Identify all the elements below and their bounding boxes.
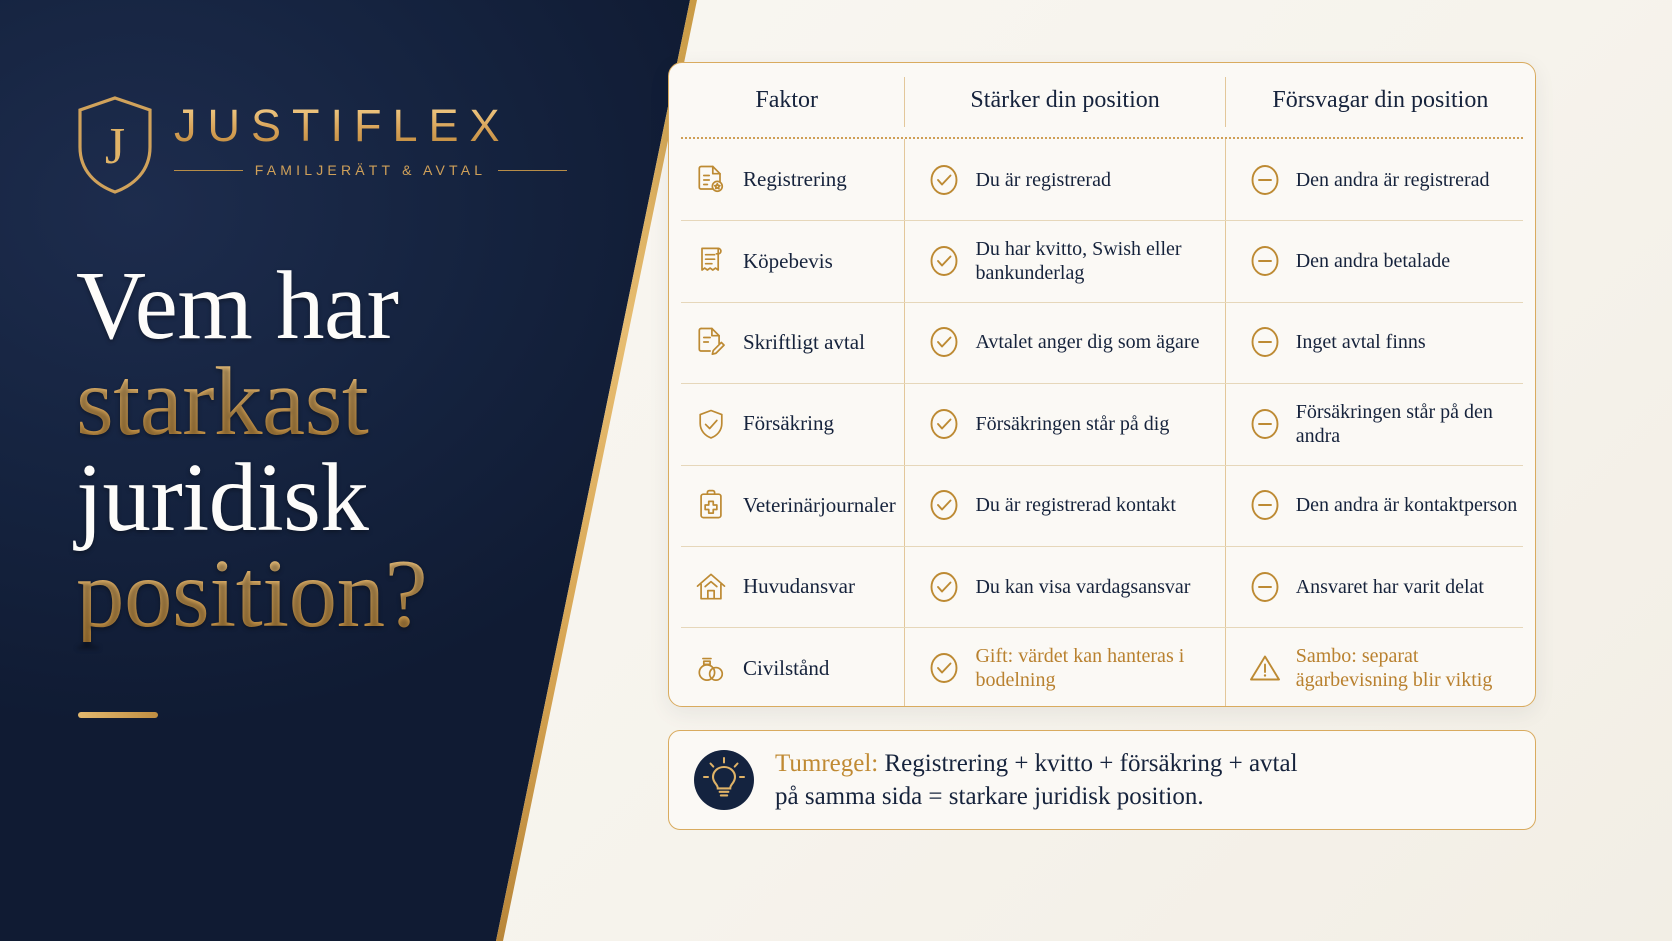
factor-label: Försäkring — [743, 411, 834, 436]
factor-label: Köpebevis — [743, 249, 833, 274]
strengthens-cell: Du är registrerad — [905, 139, 1224, 220]
weakens-cell: Den andra betalade — [1226, 220, 1535, 301]
comparison-table: Faktor Stärker din position Försvagar di… — [668, 62, 1536, 707]
minus-circle-icon — [1248, 163, 1282, 197]
check-circle-icon — [927, 163, 961, 197]
minus-circle-icon — [1248, 244, 1282, 278]
logo-rule-right — [498, 170, 567, 171]
shield-check-icon — [693, 406, 729, 442]
headline-line-3: juridisk — [76, 450, 546, 546]
strengthens-cell: Du kan visa vardagsansvar — [905, 546, 1224, 627]
wedding-rings-icon — [693, 650, 729, 686]
document-pencil-icon — [693, 324, 729, 360]
weakens-cell: Sambo: separat ägarbevisning blir viktig — [1226, 627, 1535, 707]
brand-logo: J JUSTIFLEX FAMILJERÄTT & AVTAL — [76, 95, 506, 205]
check-circle-icon — [927, 244, 961, 278]
factor-label: Veterinärjournaler — [743, 493, 896, 518]
table-row: KöpebevisDu har kvitto, Swish eller bank… — [669, 220, 1535, 301]
warning-triangle-icon — [1248, 651, 1282, 685]
check-circle-icon — [927, 488, 961, 522]
weakens-cell: Försäkringen står på den andra — [1226, 383, 1535, 464]
strengthens-cell: Avtalet anger dig som ägare — [905, 302, 1224, 383]
strengthens-text: Du är registrerad — [975, 168, 1111, 192]
strengthens-cell: Försäkringen står på dig — [905, 383, 1224, 464]
tumregel-callout: Tumregel: Registrering + kvitto + försäk… — [668, 730, 1536, 830]
weakens-text: Sambo: separat ägarbevisning blir viktig — [1296, 644, 1529, 692]
clipboard-medical-icon — [693, 487, 729, 523]
tumregel-label: Tumregel: — [775, 750, 885, 777]
headline-line-2: starkast — [76, 354, 546, 450]
minus-circle-icon — [1248, 570, 1282, 604]
factor-cell: Försäkring — [669, 383, 904, 464]
strengthens-cell: Du har kvitto, Swish eller bankunderlag — [905, 220, 1224, 301]
headline-accent-dash — [78, 712, 158, 718]
table-row: FörsäkringFörsäkringen står på digFörsäk… — [669, 383, 1535, 464]
minus-circle-icon — [1248, 488, 1282, 522]
table-row: VeterinärjournalerDu är registrerad kont… — [669, 465, 1535, 546]
receipt-icon — [693, 243, 729, 279]
tumregel-text: Tumregel: Registrering + kvitto + försäk… — [775, 747, 1298, 813]
table-row: CivilståndGift: värdet kan hanteras i bo… — [669, 627, 1535, 707]
factor-label: Civilstånd — [743, 656, 829, 681]
weakens-text: Den andra är registrerad — [1296, 168, 1490, 192]
brand-tagline: FAMILJERÄTT & AVTAL — [255, 162, 487, 178]
factor-label: Registrering — [743, 167, 847, 192]
weakens-text: Den andra betalade — [1296, 249, 1450, 273]
strengthens-text: Du är registrerad kontakt — [975, 493, 1175, 517]
tumregel-line-1: Registrering + kvitto + försäkring + avt… — [885, 750, 1298, 777]
column-header-strengthens: Stärker din position — [905, 63, 1224, 137]
check-circle-icon — [927, 407, 961, 441]
shield-monogram-icon: J — [76, 95, 154, 195]
headline-line-1: Vem har — [76, 258, 546, 354]
page-title: Vem har starkast juridisk position? — [76, 258, 546, 642]
strengthens-cell: Du är registrerad kontakt — [905, 465, 1224, 546]
weakens-text: Den andra är kontaktperson — [1296, 493, 1518, 517]
factor-cell: Veterinärjournaler — [669, 465, 904, 546]
document-seal-icon — [693, 162, 729, 198]
strengthens-cell: Gift: värdet kan hanteras i bodelning — [905, 627, 1224, 707]
weakens-cell: Ansvaret har varit delat — [1226, 546, 1535, 627]
tumregel-line-2: på samma sida = starkare juridisk positi… — [775, 783, 1204, 810]
logo-rule-left — [174, 170, 243, 171]
strengthens-text: Du har kvitto, Swish eller bankunderlag — [975, 237, 1218, 285]
check-circle-icon — [927, 325, 961, 359]
minus-circle-icon — [1248, 407, 1282, 441]
svg-text:J: J — [105, 118, 125, 175]
headline-line-4: position? — [76, 546, 546, 642]
weakens-text: Inget avtal finns — [1296, 330, 1426, 354]
strengthens-text: Försäkringen står på dig — [975, 412, 1169, 436]
factor-cell: Köpebevis — [669, 220, 904, 301]
minus-circle-icon — [1248, 325, 1282, 359]
factor-cell: Civilstånd — [669, 627, 904, 707]
column-header-faktor: Faktor — [669, 63, 904, 137]
factor-cell: Skriftligt avtal — [669, 302, 904, 383]
weakens-cell: Den andra är registrerad — [1226, 139, 1535, 220]
weakens-text: Försäkringen står på den andra — [1296, 400, 1529, 448]
check-circle-icon — [927, 570, 961, 604]
weakens-cell: Den andra är kontaktperson — [1226, 465, 1535, 546]
strengthens-text: Avtalet anger dig som ägare — [975, 330, 1199, 354]
lightbulb-icon — [693, 749, 755, 811]
factor-cell: Registrering — [669, 139, 904, 220]
table-body: RegistreringDu är registreradDen andra ä… — [669, 139, 1535, 707]
table-header-row: Faktor Stärker din position Försvagar di… — [669, 63, 1535, 137]
weakens-cell: Inget avtal finns — [1226, 302, 1535, 383]
factor-label: Huvudansvar — [743, 574, 855, 599]
table-row: RegistreringDu är registreradDen andra ä… — [669, 139, 1535, 220]
column-header-weakens: Försvagar din position — [1226, 63, 1535, 137]
weakens-text: Ansvaret har varit delat — [1296, 575, 1484, 599]
brand-wordmark: JUSTIFLEX — [174, 103, 574, 148]
table-row: HuvudansvarDu kan visa vardagsansvarAnsv… — [669, 546, 1535, 627]
strengthens-text: Du kan visa vardagsansvar — [975, 575, 1190, 599]
check-circle-icon — [927, 651, 961, 685]
home-icon — [693, 569, 729, 605]
table-row: Skriftligt avtalAvtalet anger dig som äg… — [669, 302, 1535, 383]
factor-label: Skriftligt avtal — [743, 330, 865, 355]
factor-cell: Huvudansvar — [669, 546, 904, 627]
strengthens-text: Gift: värdet kan hanteras i bodelning — [975, 644, 1218, 692]
